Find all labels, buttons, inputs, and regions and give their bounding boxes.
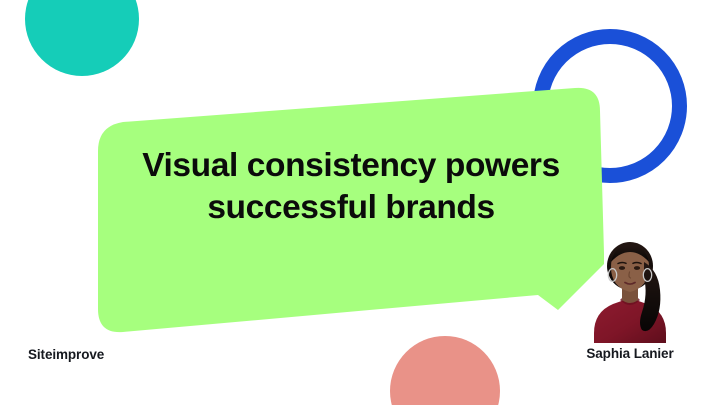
- teal-circle-icon: [25, 0, 139, 76]
- slide-canvas: Visual consistency powers successful bra…: [0, 0, 720, 405]
- avatar: [580, 240, 680, 343]
- brand-label: Siteimprove: [28, 347, 104, 362]
- speaker-block: Saphia Lanier: [580, 240, 680, 370]
- salmon-circle-icon: [390, 336, 500, 405]
- speech-bubble-shape: [98, 88, 604, 334]
- speaker-name: Saphia Lanier: [532, 346, 720, 361]
